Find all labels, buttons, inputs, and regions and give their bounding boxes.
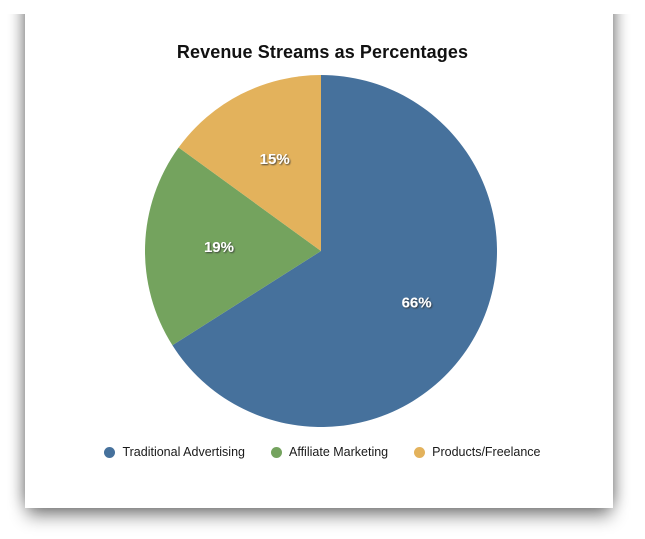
chart-canvas: Revenue Streams as Percentages 66%19%15%… — [0, 0, 645, 539]
legend-item[interactable]: Products/Freelance — [414, 445, 540, 459]
legend-item-label: Affiliate Marketing — [289, 445, 388, 459]
pie-slice-label: 15% — [260, 151, 290, 168]
pie-slice-group — [145, 75, 497, 427]
pie-chart-svg: 66%19%15% — [145, 75, 497, 427]
page-title: Revenue Streams as Percentages — [0, 42, 645, 63]
legend-swatch-icon — [271, 447, 282, 458]
top-edge-mask — [0, 0, 645, 14]
pie-chart: 66%19%15% — [145, 75, 497, 427]
legend-item-label: Products/Freelance — [432, 445, 540, 459]
pie-slice-label: 66% — [402, 295, 432, 312]
legend-swatch-icon — [414, 447, 425, 458]
legend-item[interactable]: Traditional Advertising — [104, 445, 245, 459]
legend-swatch-icon — [104, 447, 115, 458]
chart-legend: Traditional AdvertisingAffiliate Marketi… — [0, 445, 645, 459]
legend-item-label: Traditional Advertising — [122, 445, 245, 459]
pie-slice-label: 19% — [204, 239, 234, 256]
legend-item[interactable]: Affiliate Marketing — [271, 445, 388, 459]
